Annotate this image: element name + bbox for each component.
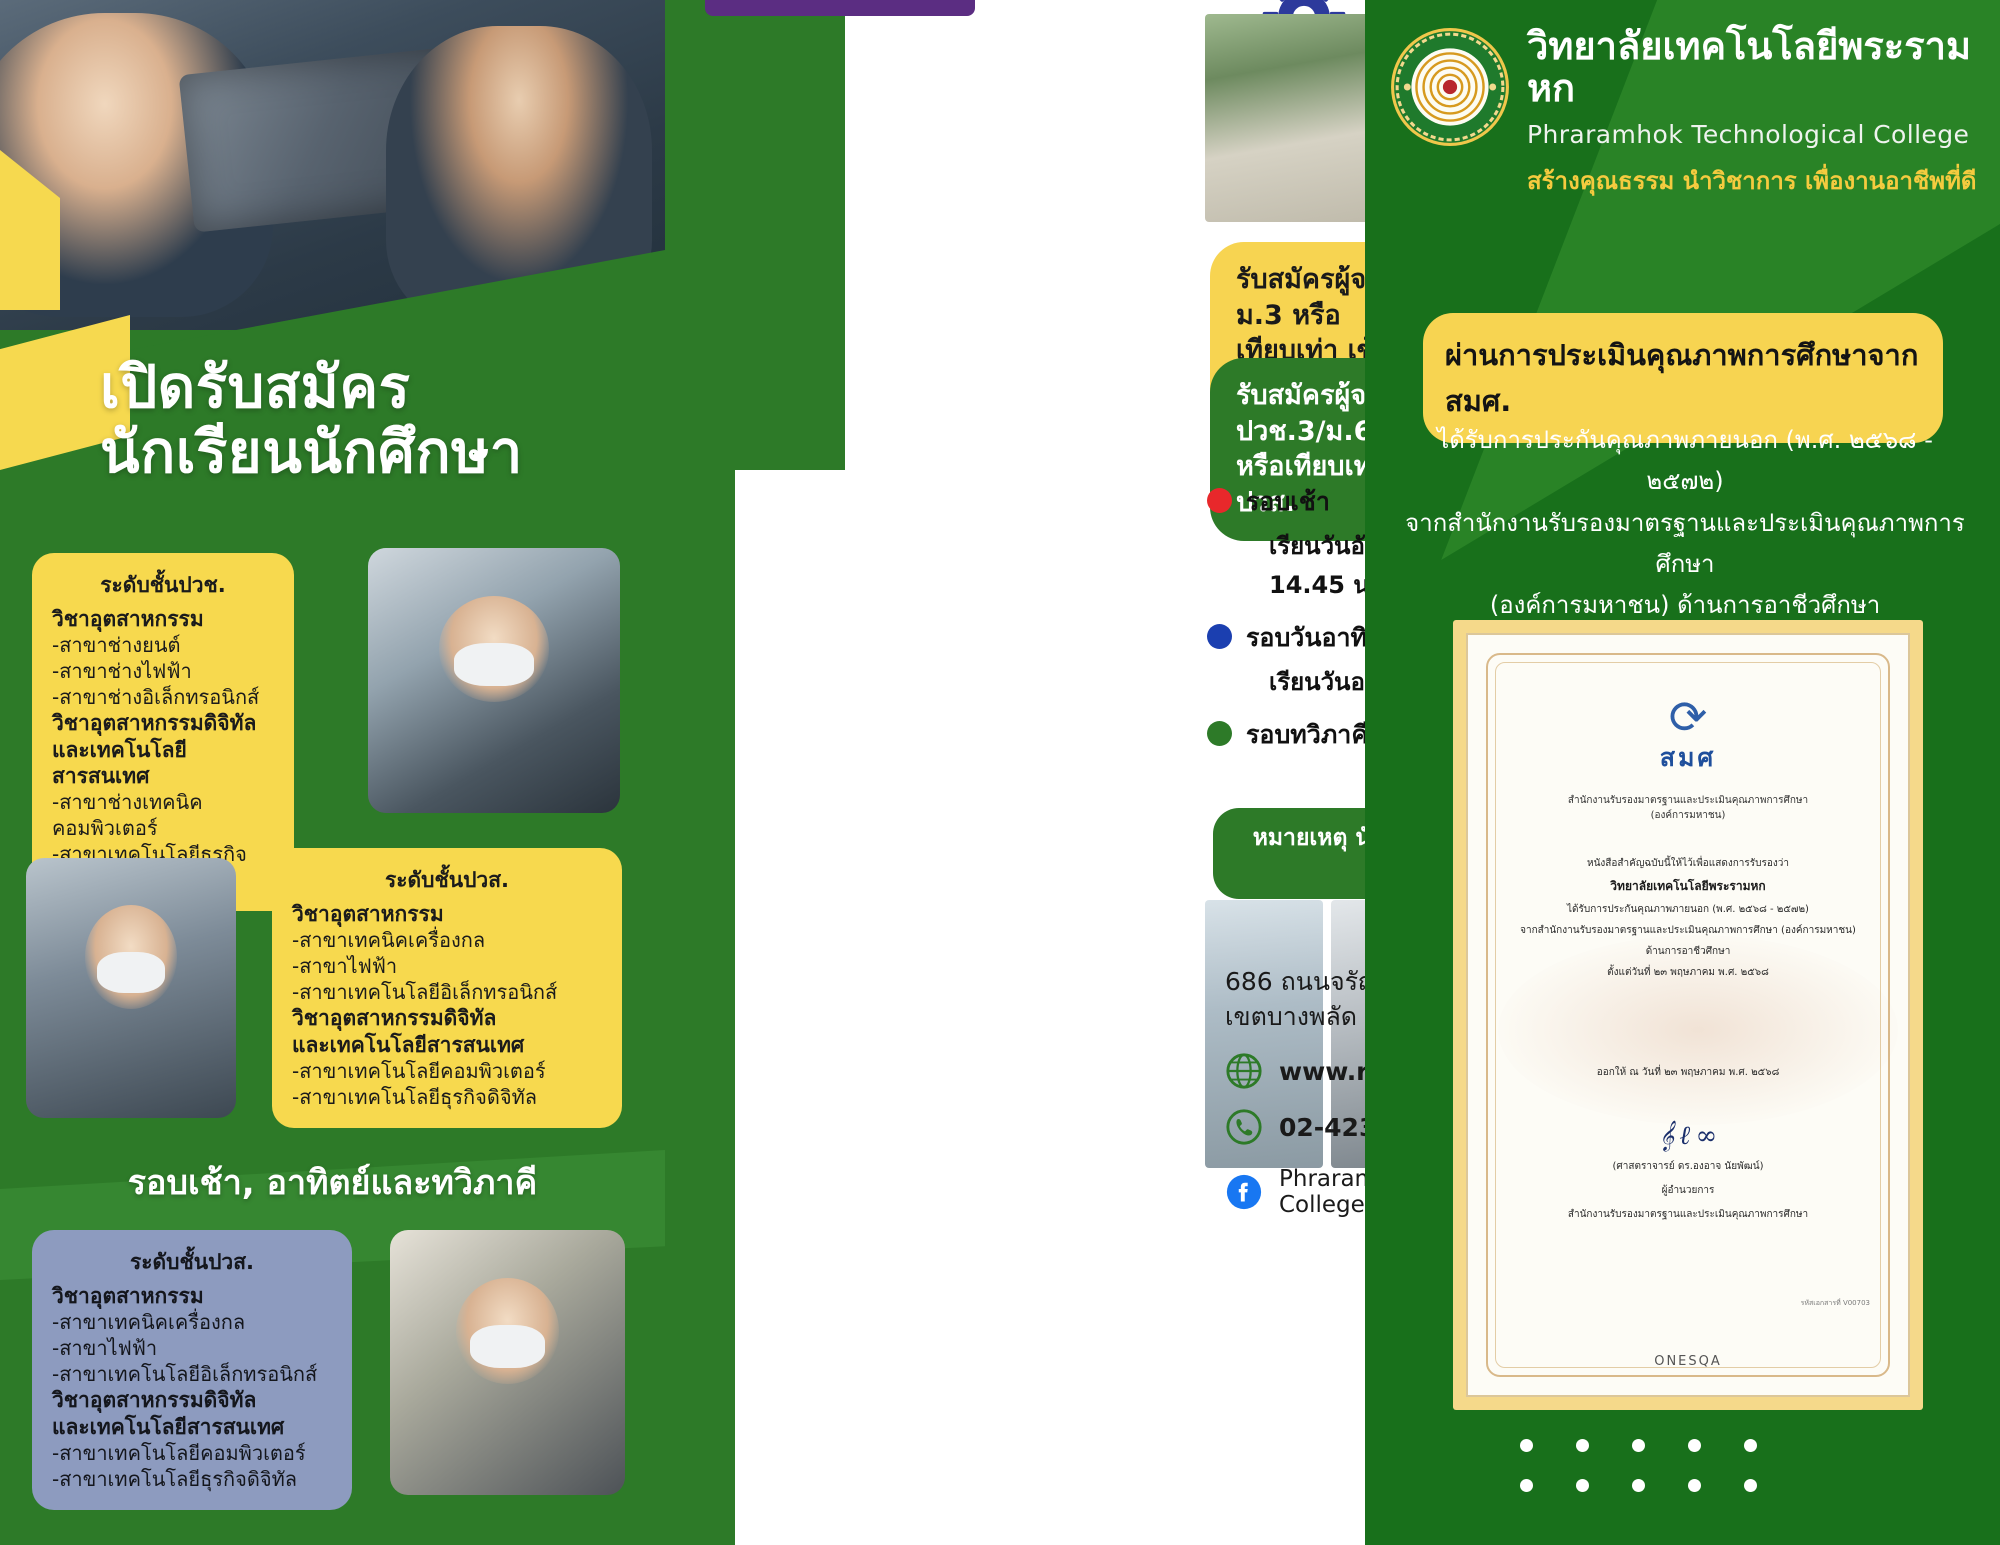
photo-mask-region (454, 643, 535, 685)
round-label: รอบทวิภาคี MOU กับสถานประกอบการ (1246, 715, 1365, 755)
main-headline: เปิดรับสมัคร นักเรียนนักศึกษา (100, 355, 640, 485)
onesqa-logo: ⟳ สมศ (1468, 697, 1908, 778)
course-item: -สาขาช่างไฟฟ้า (52, 658, 274, 684)
college-name-english: Phraramhok Technological College (1527, 120, 2000, 149)
certificate-code: รหัสเอกสารที่ V00703 (1801, 1298, 1870, 1309)
dot (1185, 244, 1194, 253)
certificate-body-line-4: ตั้งแต่วันที่ ๒๓ พฤษภาคม พ.ศ. ๒๕๖๘ (1502, 962, 1874, 983)
round-row-morning: รอบเช้า (1207, 482, 1365, 522)
course-level-label: ระดับชั้นปวส. (52, 1246, 332, 1279)
phone-text[interactable]: 02-423-0131,094-382-3140 (1279, 1113, 1365, 1142)
dot (1185, 217, 1194, 226)
right-panel: วิทยาลัยเทคโนโลยีพระรามหก Phraramhok Tec… (1365, 0, 2000, 1545)
course-group-label-cont: และเทคโนโลยีสารสนเทศ (52, 737, 274, 790)
dot (1185, 190, 1194, 199)
certificate-document: ⟳ สมศ สำนักงานรับรองมาตรฐานและประเมินคุณ… (1466, 633, 1910, 1397)
course-item: -สาขาเทคโนโลยีอิเล็กทรอนิกส์ (52, 1361, 332, 1387)
website-text[interactable]: www.ram6.ac.th (1279, 1057, 1365, 1086)
certificate-body-line-3: ด้านการอาชีวศึกษา (1502, 941, 1874, 962)
certificate-body: หนังสือสำคัญฉบับนี้ให้ไว้เพื่อแสดงการรับ… (1502, 853, 1874, 983)
course-level-label: ระดับชั้นปวช. (52, 569, 274, 602)
course-item: -สาขาเทคโนโลยีธุรกิจดิจิทัล (292, 1084, 602, 1110)
signature-mark: 𝄞 ℓ ∞ (1468, 1121, 1908, 1152)
globe-icon (1225, 1052, 1263, 1090)
dot (1145, 217, 1154, 226)
course-item: -สาขาเทคโนโลยีธุรกิจดิจิทัล (52, 1466, 332, 1492)
course-item: -สาขาช่างอิเล็กทรอนิกส์ (52, 684, 274, 710)
certificate-org-name: สำนักงานรับรองมาตรฐานและประเมินคุณภาพการ… (1468, 793, 1908, 823)
purple-tab-accent (705, 0, 975, 16)
headline-line-2: นักเรียนนักศึกษา (100, 420, 640, 485)
middle-panel: รับสมัครผู้จบการศึกษาระดับชั้น ม.3 หรือ … (665, 0, 1365, 1545)
study-rounds-list: รอบเช้า เรียนวันอังคาร - วันเสาร์ เวลา 0… (1207, 482, 1365, 759)
dot (1105, 271, 1114, 280)
round-label: รอบเช้า (1246, 482, 1330, 522)
bullet-dot-blue (1207, 624, 1232, 649)
dot (1632, 1439, 1645, 1452)
dot (1576, 1479, 1589, 1492)
course-group-label: วิชาอุตสาหกรรมดิจิทัล (292, 1005, 602, 1031)
dot (1145, 244, 1154, 253)
photo-mask-region (470, 1325, 545, 1367)
dot (1105, 244, 1114, 253)
website-row[interactable]: www.ram6.ac.th (1225, 1052, 1365, 1090)
course-level-label: ระดับชั้นปวส. (292, 864, 602, 897)
left-panel: เปิดรับสมัคร นักเรียนนักศึกษา ระดับชั้นป… (0, 0, 665, 1545)
dot (1105, 217, 1114, 226)
dot (1520, 1479, 1533, 1492)
dot (1744, 1439, 1757, 1452)
college-seal-icon (1389, 26, 1511, 148)
photo-mask-region (97, 952, 164, 994)
certificate-issue-date: ออกให้ ณ วันที่ ๒๓ พฤษภาคม พ.ศ. ๒๕๖๘ (1468, 1065, 1908, 1080)
round-label: รอบวันอาทิตย์ (1246, 618, 1365, 658)
dot (1576, 1439, 1589, 1452)
address-line-2: เขตบางพลัด กรุงเทพมหานคร 10700 (1225, 1000, 1365, 1035)
round-detail: เรียนวันอังคาร - วันเสาร์ เวลา 08.00 - 1… (1269, 526, 1365, 604)
course-item: -สาขาเทคโนโลยีอิเล็กทรอนิกส์ (292, 979, 602, 1005)
course-group-label: วิชาอุตสาหกรรม (292, 901, 602, 927)
decorative-dot-grid-bottom (1520, 1439, 1800, 1519)
headline-line-1: เปิดรับสมัคร (100, 355, 640, 420)
college-title-block: วิทยาลัยเทคโนโลยีพระรามหก Phraramhok Tec… (1527, 26, 2000, 200)
facebook-icon (1225, 1173, 1263, 1211)
college-identity-header: วิทยาลัยเทคโนโลยีพระรามหก Phraramhok Tec… (1389, 26, 2000, 200)
course-group-label: วิชาอุตสาหกรรมดิจิทัล (52, 710, 274, 736)
course-item: -สาขาเทคนิคเครื่องกล (292, 927, 602, 953)
contact-block: 686 ถนนจรัญสนิทวงศ์ แขวงบางอ้อ เขตบางพลั… (1225, 965, 1365, 1218)
photo-student-computer-repair (390, 1230, 625, 1495)
signer-title-1: ผู้อำนวยการ (1468, 1182, 1908, 1200)
onesqa-swoosh-icon: ⟳ (1468, 697, 1908, 738)
certificate-frame: ⟳ สมศ สำนักงานรับรองมาตรฐานและประเมินคุณ… (1453, 620, 1923, 1410)
course-item: -สาขาช่างยนต์ (52, 632, 274, 658)
facebook-page-name[interactable]: Phraramhok Technological College (1279, 1166, 1365, 1218)
college-name-thai: วิทยาลัยเทคโนโลยีพระรามหก (1527, 26, 2000, 110)
phone-row[interactable]: 02-423-0131,094-382-3140 (1225, 1108, 1365, 1146)
dot (1105, 190, 1114, 199)
course-item: -สาขาเทคโนโลยีคอมพิวเตอร์ (292, 1058, 602, 1084)
certificate-college-name: วิทยาลัยเทคโนโลยีพระรามหก (1502, 874, 1874, 899)
photo-students-group (1205, 14, 1365, 222)
course-item: -สาขาช่างเทคนิคคอมพิวเตอร์ (52, 789, 274, 841)
certificate-body-line-2: จากสำนักงานรับรองมาตรฐานและประเมินคุณภาพ… (1502, 920, 1874, 941)
college-motto: สร้างคุณธรรม นำวิชาการ เพื่องานอาชีพที่ด… (1527, 161, 2000, 200)
certificate-footer-brand: ONESQA (1468, 1354, 1908, 1369)
dot (1688, 1439, 1701, 1452)
round-row-mou: รอบทวิภาคี MOU กับสถานประกอบการ (1207, 715, 1365, 755)
onesqa-abbr: สมศ (1468, 738, 1908, 778)
dot (1688, 1479, 1701, 1492)
course-card-pvs-1: ระดับชั้นปวส. วิชาอุตสาหกรรม -สาขาเทคนิค… (272, 848, 622, 1128)
photo-teacher-and-student (368, 548, 620, 813)
course-card-pvs-2: ระดับชั้นปวส. วิชาอุตสาหกรรม -สาขาเทคนิค… (32, 1230, 352, 1510)
facebook-row[interactable]: Phraramhok Technological College (1225, 1166, 1365, 1218)
course-item: -สาขาเทคโนโลยีคอมพิวเตอร์ (52, 1440, 332, 1466)
certificate-signature-block: 𝄞 ℓ ∞ (ศาสตราจารย์ ดร.องอาจ นัยพัฒน์) ผู… (1468, 1121, 1908, 1224)
bullet-dot-green (1207, 721, 1232, 746)
note-banner: หมายเหตุ นักศึกษาวิชาทหาร (เรียนวันจันทร… (1213, 808, 1365, 899)
course-group-label: วิชาอุตสาหกรรม (52, 1283, 332, 1309)
photo-machine-detail (179, 44, 500, 233)
admission-pvs-line-1: รับสมัครผู้จบการศึกษาระดับชั้น ปวช.3/ม.6 (1236, 378, 1365, 449)
course-group-label: วิชาอุตสาหกรรม (52, 606, 274, 632)
certificate-intro: หนังสือสำคัญฉบับนี้ให้ไว้เพื่อแสดงการรับ… (1502, 853, 1874, 874)
rounds-footer-text: รอบเช้า, อาทิตย์และทวิภาคี (0, 1155, 665, 1209)
phone-icon (1225, 1108, 1263, 1146)
dot (1744, 1479, 1757, 1492)
brochure-poster: เปิดรับสมัคร นักเรียนนักศึกษา ระดับชั้นป… (0, 0, 2000, 1545)
accreditation-line-1: ได้รับการประกันคุณภาพภายนอก (พ.ศ. ๒๕๖๘ -… (1395, 420, 1975, 503)
dot (1145, 190, 1154, 199)
dot (1520, 1439, 1533, 1452)
green-block-top-left (665, 0, 845, 470)
accreditation-line-2: จากสำนักงานรับรองมาตรฐานและประเมินคุณภาพ… (1395, 503, 1975, 586)
address-line-1: 686 ถนนจรัญสนิทวงศ์ แขวงบางอ้อ (1225, 965, 1365, 1000)
course-group-label: วิชาอุตสาหกรรมดิจิทัล (52, 1387, 332, 1413)
course-item: -สาขาไฟฟ้า (292, 953, 602, 979)
signer-name: (ศาสตราจารย์ ดร.องอาจ นัยพัฒน์) (1468, 1158, 1908, 1176)
round-detail: เรียนวันอาทิตย์ เวลา 8.00 - 15.45 น. (1269, 662, 1365, 701)
signer-title-2: สำนักงานรับรองมาตรฐานและประเมินคุณภาพการ… (1468, 1206, 1908, 1224)
dot (1185, 271, 1194, 280)
course-item: -สาขาไฟฟ้า (52, 1335, 332, 1361)
certificate-body-line-1: ได้รับการประกันคุณภาพภายนอก (พ.ศ. ๒๕๖๘ -… (1502, 899, 1874, 920)
round-row-sunday: รอบวันอาทิตย์ (1207, 618, 1365, 658)
dot (1632, 1479, 1645, 1492)
org-line-2: (องค์การมหาชน) (1468, 808, 1908, 823)
dot (1145, 271, 1154, 280)
admission-pvc-line-1: รับสมัครผู้จบการศึกษาระดับชั้น ม.3 หรือ (1236, 262, 1365, 333)
bullet-dot-red (1207, 488, 1232, 513)
org-line-1: สำนักงานรับรองมาตรฐานและประเมินคุณภาพการ… (1468, 793, 1908, 808)
course-item: -สาขาเทคนิคเครื่องกล (52, 1309, 332, 1335)
photo-row-top (1205, 14, 1365, 222)
photo-student-ladder-work (26, 858, 236, 1118)
course-group-label-cont: และเทคโนโลยีสารสนเทศ (52, 1414, 332, 1440)
green-block-left-strip (665, 470, 735, 1545)
course-group-label-cont: และเทคโนโลยีสารสนเทศ (292, 1032, 602, 1058)
